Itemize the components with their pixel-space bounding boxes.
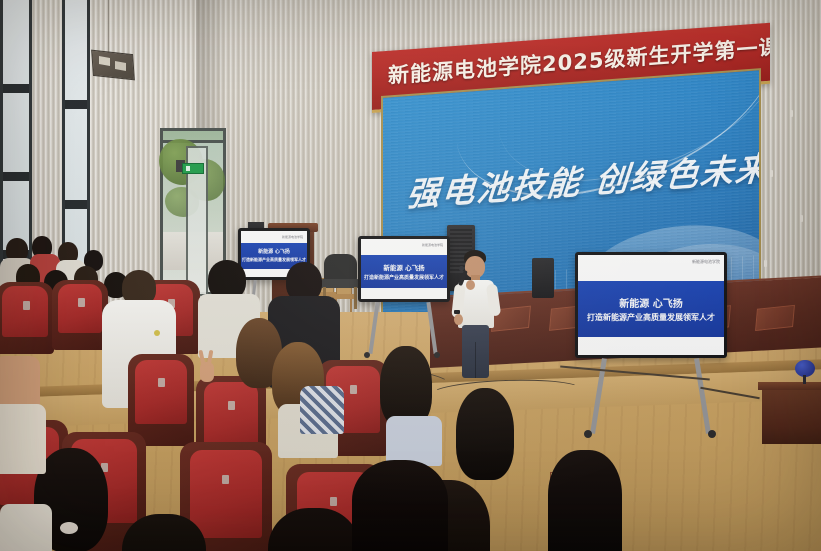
audience-head <box>352 460 448 551</box>
pendant-light-fixture <box>91 50 135 81</box>
tv-screen: 新能源电池学院 新能源 心飞扬 打造新能源产业高质量发展领军人才 <box>578 255 724 355</box>
blue-decor-stem <box>803 375 806 384</box>
seat-number-plate <box>330 497 337 506</box>
seat-number-plate <box>222 475 229 484</box>
pendant-light-cord <box>108 0 109 52</box>
audience-head <box>548 450 622 551</box>
tv-stand-wheel <box>708 430 716 438</box>
seat-cushion <box>58 284 102 333</box>
pendant-light-lamp <box>115 61 126 71</box>
wall-texture-speck <box>800 215 803 222</box>
audience-area <box>0 236 560 551</box>
slide-footer <box>578 337 724 355</box>
tv-bezel: 新能源电池学院 新能源 心飞扬 打造新能源产业高质量发展领军人才 <box>575 252 727 358</box>
exit-sign-icon <box>182 163 204 174</box>
slide-blue-band: 新能源 心飞扬 打造新能源产业高质量发展领军人才 <box>578 281 724 337</box>
auditorium-scene: 新能源电池学院2025级新生开学第一课 强电池技能 创绿色未来 <box>0 0 821 551</box>
seat-cushion <box>135 360 186 424</box>
hair-tie-accessory <box>60 522 78 534</box>
seat-number-plate <box>158 378 165 387</box>
tv-stand-wheel <box>584 430 592 438</box>
seat-number-plate <box>78 298 85 307</box>
wainscot-diamond <box>755 305 795 331</box>
audience-body <box>0 504 52 551</box>
window-mullion <box>65 100 87 109</box>
slide-title: 新能源 心飞扬 <box>619 295 682 310</box>
seat-cushion <box>2 286 47 336</box>
pendant-light-lamp <box>99 56 110 66</box>
window-mullion <box>3 172 29 181</box>
slide-header: 新能源电池学院 <box>578 255 724 281</box>
wall-texture-speck <box>770 170 773 177</box>
slide-corner-logo: 新能源电池学院 <box>692 259 720 265</box>
wood-counter <box>762 386 821 444</box>
audience-body <box>386 416 442 466</box>
blue-decor-object <box>795 360 815 384</box>
auditorium-seat[interactable] <box>52 280 108 350</box>
audience-body <box>0 404 46 474</box>
seat-number-plate <box>228 401 235 410</box>
audience-body <box>300 386 344 434</box>
wall-texture-speck <box>764 260 767 267</box>
auditorium-seat[interactable] <box>0 282 54 354</box>
tv-right[interactable]: 新能源电池学院 新能源 心飞扬 打造新能源产业高质量发展领军人才 <box>575 252 727 358</box>
audience-shirt-logo <box>154 330 160 336</box>
seat-number-plate <box>23 301 30 310</box>
audience-head <box>456 388 514 480</box>
window-mullion <box>65 200 87 209</box>
seat-cushion <box>190 450 262 538</box>
wall-texture-speck <box>790 110 793 117</box>
window-mullion <box>3 84 29 93</box>
seat-number-plate <box>350 385 357 394</box>
seat-cushion <box>204 382 259 449</box>
slide-subtitle: 打造新能源产业高质量发展领军人才 <box>587 312 715 323</box>
